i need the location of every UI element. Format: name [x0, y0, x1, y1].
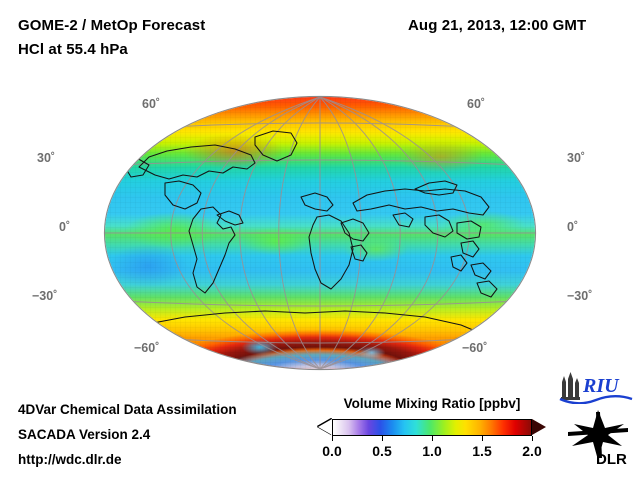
figure-canvas: GOME‑2 / MetOp Forecast HCl at 55.4 hPa … [0, 0, 640, 480]
lat-label-60n-left: 60˚ [142, 97, 160, 111]
colorbar-tick [332, 436, 333, 441]
dlr-logo: DLR [560, 408, 636, 466]
timestamp-label: Aug 21, 2013, 12:00 GMT [408, 17, 586, 34]
lat-label-30s-right: −30˚ [567, 289, 592, 303]
colorbar-title: Volume Mixing Ratio [ppbv] [318, 396, 546, 411]
colorbar-low-extend-arrow [318, 419, 332, 435]
species-subtitle: HCl at 55.4 hPa [18, 41, 128, 58]
riu-wordmark: RIU [582, 375, 620, 397]
page-title: GOME‑2 / MetOp Forecast [18, 17, 205, 34]
colorbar-tick [532, 436, 533, 441]
colorbar-tick [382, 436, 383, 441]
lat-label-0-left: 0˚ [59, 220, 70, 234]
colorbar-tick-label: 1.5 [472, 443, 491, 459]
lat-label-30n-right: 30˚ [567, 151, 585, 165]
lat-label-0-right: 0˚ [567, 220, 578, 234]
mollweide-map [105, 97, 535, 369]
map-panel: 60˚ 60˚ 30˚ 30˚ 0˚ 0˚ −30˚ −30˚ −60˚ −60… [92, 88, 548, 380]
lat-label-60s-left: −60˚ [134, 341, 159, 355]
lat-label-60s-right: −60˚ [462, 341, 487, 355]
colorbar-high-extend-arrow [532, 419, 546, 435]
colorbar-tick-label: 1.0 [422, 443, 441, 459]
colorbar-scale [318, 417, 546, 439]
url-label[interactable]: http://wdc.dlr.de [18, 452, 122, 467]
lat-label-30s-left: −30˚ [32, 289, 57, 303]
lat-label-60n-right: 60˚ [467, 97, 485, 111]
colorbar-tick-label: 0.5 [372, 443, 391, 459]
colorbar-legend: Volume Mixing Ratio [ppbv] 0.00.51.01.52… [318, 396, 546, 461]
lat-label-30n-left: 30˚ [37, 151, 55, 165]
coastlines [105, 97, 535, 369]
version-label: SACADA Version 2.4 [18, 427, 150, 442]
riu-logo: RIU [556, 370, 636, 404]
dlr-wordmark: DLR [596, 451, 627, 466]
method-label: 4DVar Chemical Data Assimilation [18, 402, 237, 417]
colorbar-ticks [332, 436, 532, 441]
colorbar-gradient [332, 419, 532, 436]
colorbar-tick [482, 436, 483, 441]
colorbar-tick-label: 2.0 [522, 443, 541, 459]
colorbar-tick-label: 0.0 [322, 443, 341, 459]
colorbar-tick-labels: 0.00.51.01.52.0 [332, 443, 532, 461]
colorbar-tick [432, 436, 433, 441]
